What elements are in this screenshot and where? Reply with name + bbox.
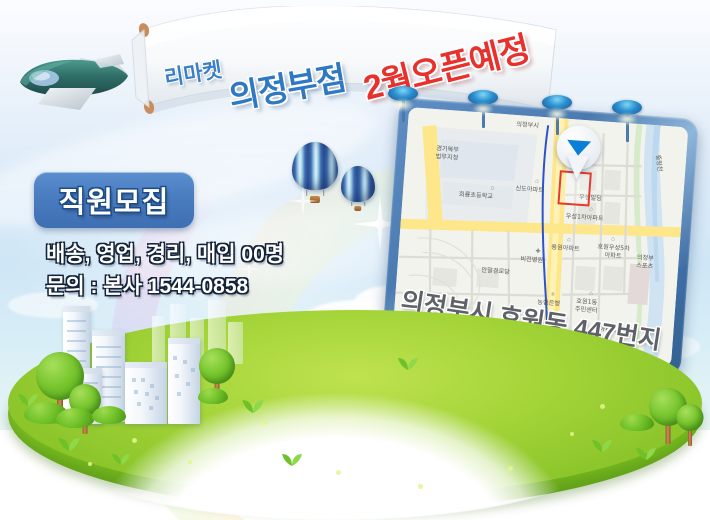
recruit-contact-text: 문의 : 본사 1544-0858 xyxy=(46,270,248,300)
grass-dot xyxy=(336,470,341,475)
city-buildings-icon xyxy=(168,338,200,424)
sprout-icon xyxy=(18,392,38,411)
bush-icon xyxy=(620,414,654,431)
center-poi-icon: ⌂ xyxy=(588,291,594,297)
building-poi-icon: ⌂ xyxy=(588,206,594,212)
map-label: 호원우성5차아파트 xyxy=(597,243,630,261)
grass-dot xyxy=(418,484,423,489)
grass-dot xyxy=(262,420,267,425)
grass-dot xyxy=(88,462,92,466)
recruit-badge-label: 직원모집 xyxy=(59,179,170,221)
sprout-icon xyxy=(282,452,302,471)
grass-dot xyxy=(132,438,137,443)
sprout-icon xyxy=(112,452,130,470)
grass-dot xyxy=(600,404,605,409)
grass-dot xyxy=(508,466,513,471)
map-label: 비전병원 xyxy=(520,256,543,265)
building-poi-icon: ⌂ xyxy=(610,236,616,242)
map-label: 의정부시 xyxy=(516,121,539,130)
hospital-poi-icon: ✚ xyxy=(535,249,541,255)
bank-poi-icon: ⍟ xyxy=(550,292,556,298)
bush-icon xyxy=(56,408,94,428)
grass-dot xyxy=(570,432,574,436)
hot-air-balloon-icon xyxy=(292,142,338,204)
bush-icon xyxy=(92,406,126,424)
recruit-badge: 직원모집 xyxy=(34,172,194,228)
school-poi-icon: ⌂ xyxy=(489,185,495,191)
sprout-icon xyxy=(398,356,418,375)
bush-icon xyxy=(198,388,228,404)
building-poi-icon: ⌂ xyxy=(534,178,540,184)
sprout-icon xyxy=(58,436,80,456)
hot-air-balloon-icon xyxy=(341,166,375,212)
sprout-icon xyxy=(242,398,264,418)
recruit-positions-text: 배송, 영업, 경리, 매입 00명 xyxy=(46,238,284,268)
grass-dot xyxy=(188,460,192,464)
promotional-banner-canvas: 리마켓 의정부점 2월오픈예정 xyxy=(0,0,710,520)
sprout-icon xyxy=(636,446,656,465)
tree-icon xyxy=(676,404,704,446)
city-buildings-icon xyxy=(125,362,167,424)
sprout-icon xyxy=(592,438,612,457)
city-buildings-icon xyxy=(152,316,165,364)
map-label: 의정부스포츠 xyxy=(636,254,654,271)
location-pin-icon xyxy=(554,124,602,183)
airplane-icon xyxy=(8,48,136,114)
building-poi-icon: ⌂ xyxy=(566,237,572,243)
map-label: 경기북부법무지청 xyxy=(435,145,459,162)
